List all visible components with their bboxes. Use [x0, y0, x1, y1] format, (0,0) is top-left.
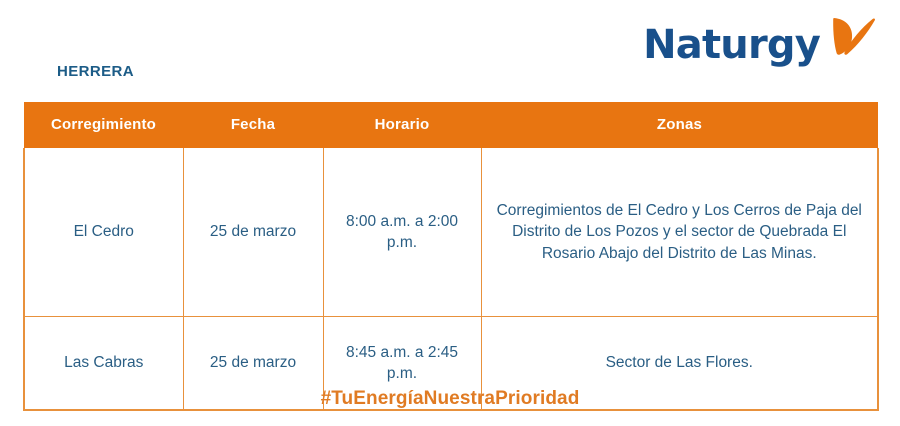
- cell-corregimiento: El Cedro: [24, 148, 183, 317]
- naturgy-wordmark: Naturgy: [643, 25, 820, 65]
- cell-fecha: 25 de marzo: [183, 148, 323, 317]
- page-title: HERRERA: [57, 64, 134, 79]
- table-header-row: Corregimiento Fecha Horario Zonas: [24, 102, 878, 148]
- column-header-corregimiento: Corregimiento: [24, 102, 183, 148]
- cell-horario: 8:00 a.m. a 2:00 p.m.: [323, 148, 481, 317]
- column-header-zonas: Zonas: [481, 102, 878, 148]
- naturgy-logo: Naturgy: [643, 18, 878, 72]
- naturgy-flame-icon: [826, 14, 878, 66]
- campaign-hashtag: #TuEnergíaNuestraPrioridad: [0, 389, 900, 408]
- outage-schedule-table: Corregimiento Fecha Horario Zonas El Ced…: [23, 102, 879, 411]
- cell-zonas: Corregimientos de El Cedro y Los Cerros …: [481, 148, 878, 317]
- table-row: El Cedro 25 de marzo 8:00 a.m. a 2:00 p.…: [24, 148, 878, 317]
- column-header-fecha: Fecha: [183, 102, 323, 148]
- column-header-horario: Horario: [323, 102, 481, 148]
- page-header: HERRERA Naturgy: [0, 0, 900, 96]
